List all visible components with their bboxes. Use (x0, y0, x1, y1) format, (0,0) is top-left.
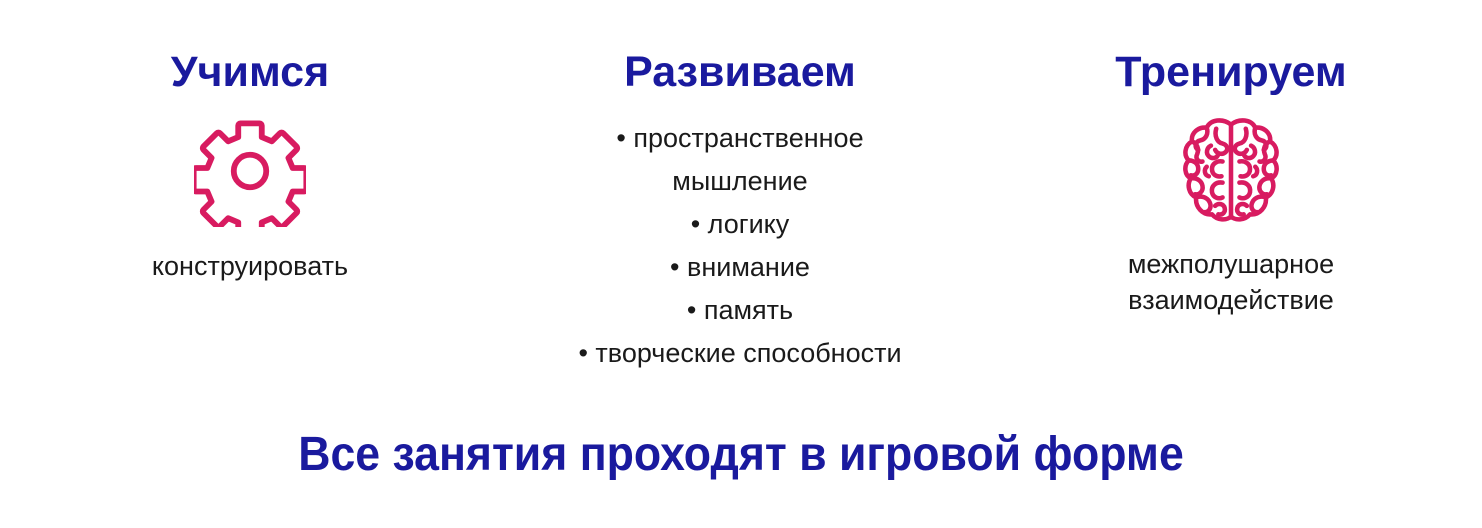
list-item: • внимание (500, 246, 980, 289)
column-learn-caption: конструировать (152, 248, 348, 284)
list-item: • память (500, 289, 980, 332)
footer-tagline: Все занятия проходят в игровой форме (52, 424, 1430, 486)
column-train-heading: Тренируем (1115, 47, 1346, 97)
column-train-caption: межполушарное взаимодействие (1128, 246, 1334, 318)
slide-canvas: Учимся конструировать Развиваем • простр… (0, 0, 1482, 528)
column-learn-heading: Учимся (171, 47, 329, 97)
three-column-band: Учимся конструировать Развиваем • простр… (0, 0, 1482, 400)
column-train: Тренируем (980, 0, 1482, 318)
column-develop: Развиваем • пространственное мышление • … (500, 0, 980, 375)
list-item: • логику (500, 203, 980, 246)
list-item: • творческие способности (500, 332, 980, 375)
list-item: • пространственное мышление (500, 117, 980, 203)
brain-icon (1178, 115, 1284, 227)
column-develop-heading: Развиваем (624, 47, 856, 97)
column-learn: Учимся конструировать (0, 0, 500, 284)
develop-bullet-list: • пространственное мышление • логику • в… (500, 117, 980, 375)
gear-icon (194, 115, 306, 227)
